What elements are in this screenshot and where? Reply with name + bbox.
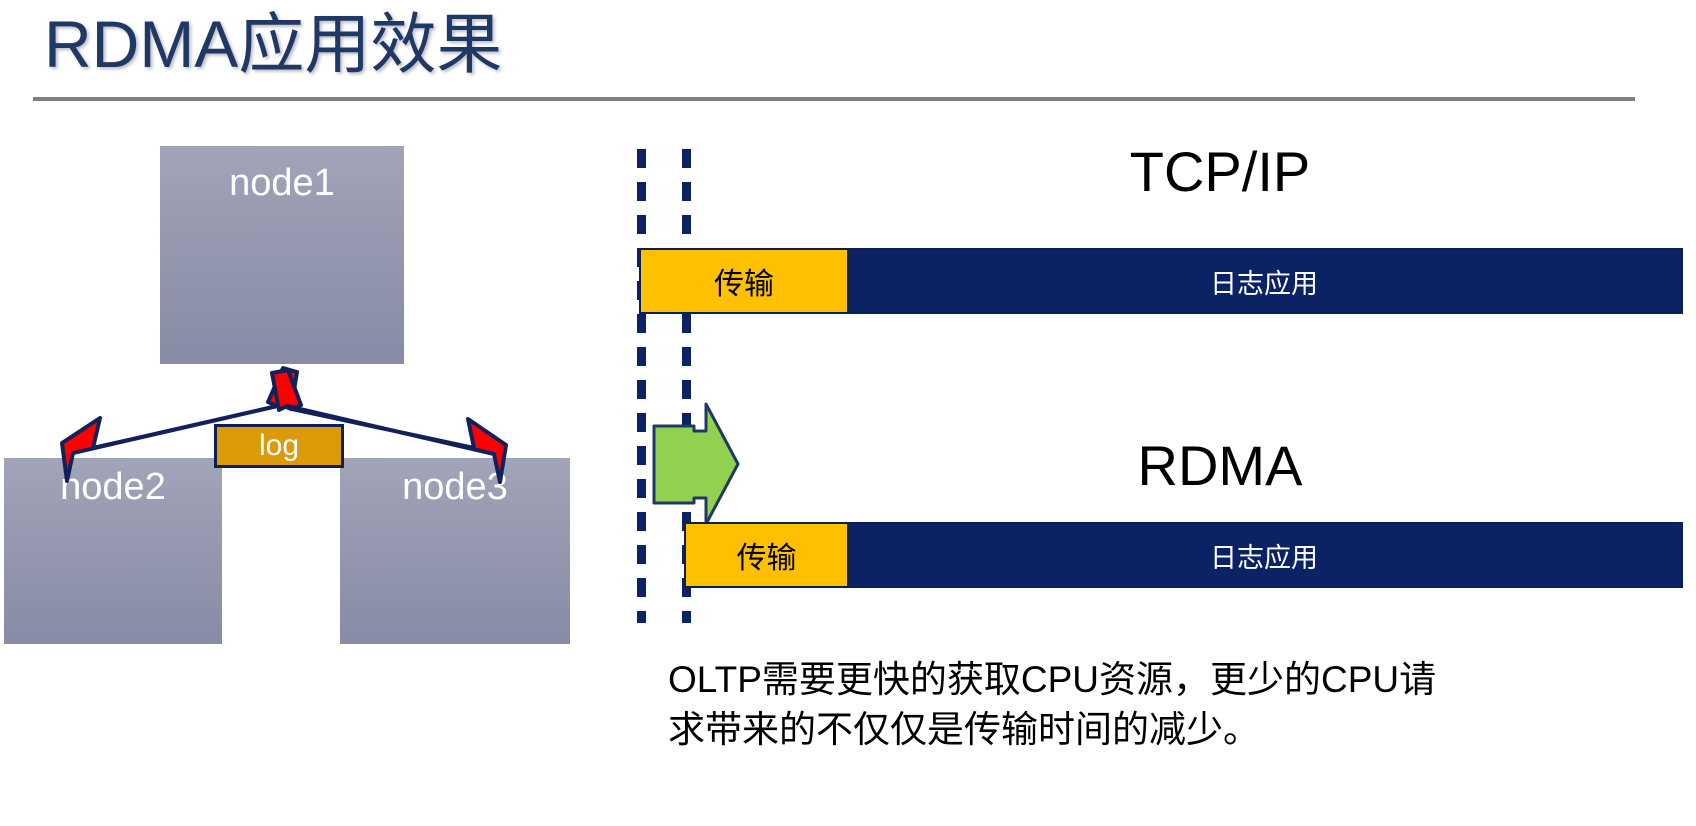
caption-text: OLTP需要更快的获取CPU资源，更少的CPU请 求带来的不仅仅是传输时间的减少… — [668, 655, 1678, 755]
slide-canvas: RDMA应用效果 node1 node2 node3 log TCP/IP 传输… — [0, 0, 1696, 826]
protocol-label-tcp: TCP/IP — [760, 140, 1680, 204]
reference-line-start — [637, 149, 646, 623]
log-box-label: log — [259, 429, 299, 462]
caption-line-2: 求带来的不仅仅是传输时间的减少。 — [668, 705, 1678, 755]
improvement-arrow-icon — [648, 398, 740, 528]
caption-line-1: OLTP需要更快的获取CPU资源，更少的CPU请 — [668, 655, 1678, 705]
title-divider — [33, 97, 1635, 101]
node-box-node3: node3 — [340, 458, 570, 644]
node-label: node2 — [4, 466, 222, 509]
bar-segment-apply: 日志应用 — [847, 250, 1681, 312]
node-label: node1 — [160, 162, 404, 205]
node-box-node2: node2 — [4, 458, 222, 644]
bar-segment-transport: 传输 — [686, 524, 847, 586]
timeline-bar-tcp: 传输 日志应用 — [639, 248, 1683, 314]
page-title: RDMA应用效果 — [44, 4, 502, 84]
timeline-bar-rdma: 传输 日志应用 — [684, 522, 1683, 588]
log-box: log — [214, 424, 344, 468]
node-box-node1: node1 — [160, 146, 404, 364]
protocol-label-rdma: RDMA — [760, 434, 1680, 498]
bar-segment-transport: 传输 — [641, 250, 847, 312]
bar-segment-apply: 日志应用 — [847, 524, 1681, 586]
node-label: node3 — [340, 466, 570, 509]
